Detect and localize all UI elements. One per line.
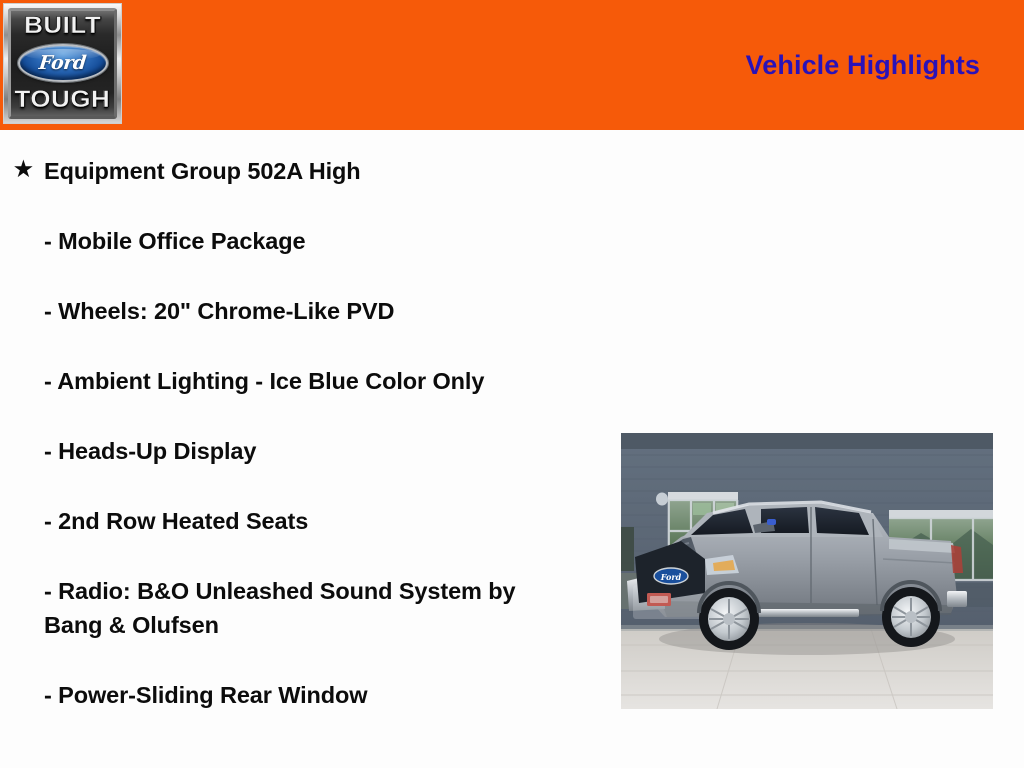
list-item: - 2nd Row Heated Seats	[0, 504, 570, 538]
list-item-label: - 2nd Row Heated Seats	[44, 508, 308, 534]
list-item-label: - Power-Sliding Rear Window	[44, 682, 368, 708]
list-item: - Wheels: 20" Chrome-Like PVD	[0, 294, 570, 328]
list-item-label: Equipment Group 502A High	[44, 158, 361, 184]
list-item: - Power-Sliding Rear Window	[0, 678, 570, 712]
header-bar: BUILT Ford TOUGH Vehicle Highlights	[0, 0, 1024, 130]
list-item: - Radio: B&O Unleashed Sound System by B…	[0, 574, 570, 642]
list-item: - Mobile Office Package	[0, 224, 570, 258]
list-item-label: - Wheels: 20" Chrome-Like PVD	[44, 298, 394, 324]
list-item-label: - Mobile Office Package	[44, 228, 306, 254]
badge-text-tough: TOUGH	[15, 87, 111, 113]
ford-oval-icon: Ford	[18, 44, 108, 82]
list-item: - Heads-Up Display	[0, 434, 570, 468]
badge-text-built: BUILT	[24, 13, 101, 39]
vehicle-highlights-list: ★ Equipment Group 502A High - Mobile Off…	[0, 130, 570, 712]
svg-text:Ford: Ford	[660, 572, 682, 582]
star-bullet-icon: ★	[14, 153, 33, 187]
list-item-label: - Heads-Up Display	[44, 438, 256, 464]
list-item-label: - Ambient Lighting - Ice Blue Color Only	[44, 368, 484, 394]
rear-wheel	[882, 587, 940, 647]
ford-wordmark: Ford	[38, 54, 87, 73]
page-title: Vehicle Highlights	[746, 50, 980, 81]
vehicle-photo-illustration: Ford	[621, 433, 993, 709]
list-item: ★ Equipment Group 502A High	[0, 154, 570, 188]
front-wheel	[699, 588, 759, 650]
content-area: ★ Equipment Group 502A High - Mobile Off…	[0, 130, 1024, 768]
badge-inner-panel: BUILT Ford TOUGH	[8, 8, 117, 119]
vehicle-photo: Ford	[621, 433, 993, 709]
built-ford-tough-badge: BUILT Ford TOUGH	[3, 3, 122, 124]
list-item: - Ambient Lighting - Ice Blue Color Only	[0, 364, 570, 398]
list-item-label: - Radio: B&O Unleashed Sound System by B…	[44, 578, 516, 638]
